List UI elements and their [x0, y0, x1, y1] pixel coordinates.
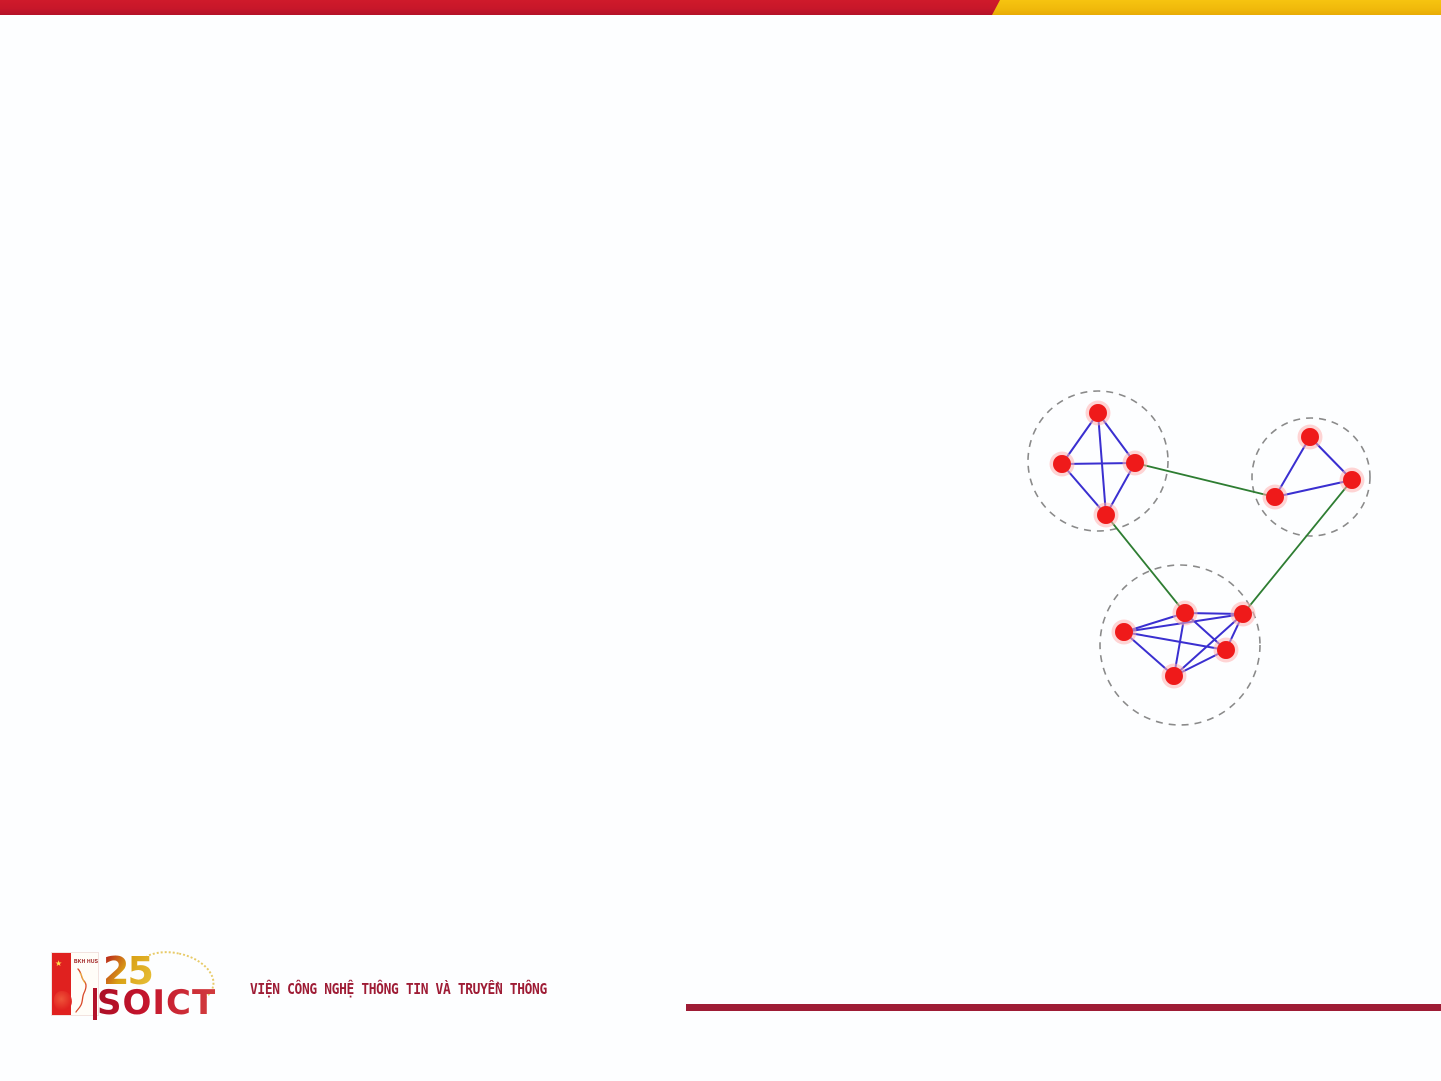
hust-emblem-icon: ★ BKH HUST — [51, 952, 99, 1016]
vietnam-map-icon — [72, 967, 94, 1013]
top-accent-bar-group — [0, 0, 1441, 30]
institute-name-text: VIỆN CÔNG NGHỆ THÔNG TIN VÀ TRUYỀN THÔNG — [250, 980, 547, 998]
footer-divider-rule — [686, 1004, 1441, 1011]
graph-node — [1115, 623, 1133, 641]
slide-canvas: ★ BKH HUST 25 SOICT VIỆN CÔNG NGHỆ THÔNG… — [0, 0, 1441, 1081]
graph-node — [1165, 667, 1183, 685]
slide-footer: ★ BKH HUST 25 SOICT VIỆN CÔNG NGHỆ THÔNG… — [0, 930, 1441, 1030]
graph-node — [1053, 455, 1071, 473]
soict-logo[interactable]: ★ BKH HUST 25 SOICT — [47, 950, 237, 1022]
graph-svg — [1010, 375, 1410, 750]
red-accent-bar-slant — [0, 0, 1008, 15]
inter-cluster-edge — [1106, 515, 1185, 613]
inter-cluster-edge — [1135, 463, 1275, 497]
emblem-accent-blob — [54, 991, 72, 1011]
graph-node — [1089, 404, 1107, 422]
graph-node — [1097, 506, 1115, 524]
soict-wordmark: SOICT — [97, 986, 216, 1020]
intra-cluster-edge — [1124, 632, 1226, 650]
graph-node — [1301, 428, 1319, 446]
flag-star-icon: ★ — [55, 960, 62, 968]
graph-node — [1217, 641, 1235, 659]
graph-node — [1234, 605, 1252, 623]
gold-accent-bar — [1020, 0, 1441, 15]
graph-clustering-diagram — [1010, 375, 1410, 750]
emblem-caption-text: BKH HUST — [74, 959, 99, 965]
graph-node — [1176, 604, 1194, 622]
inter-cluster-edge — [1243, 480, 1352, 614]
graph-node — [1266, 488, 1284, 506]
graph-node — [1126, 454, 1144, 472]
intra-cluster-edge-group — [1062, 413, 1352, 676]
graph-node — [1343, 471, 1361, 489]
inter-cluster-edge-group — [1106, 463, 1352, 614]
